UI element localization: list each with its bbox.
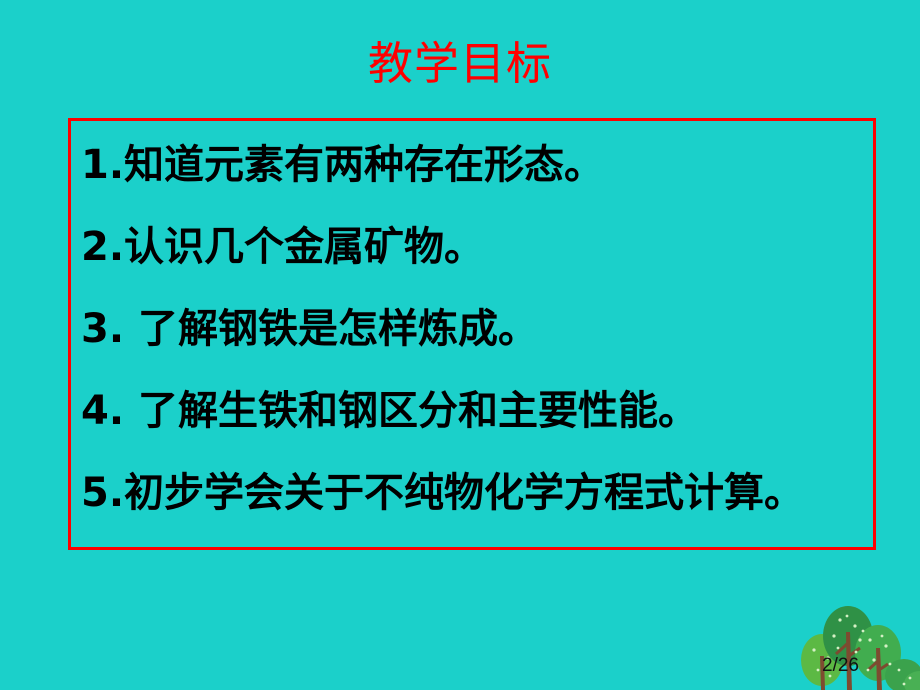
objectives-box: 1.知道元素有两种存在形态。 2.认识几个金属矿物。 3. 了解钢铁是怎样炼成。… xyxy=(68,118,876,550)
slide-canvas: 教学目标 1.知道元素有两种存在形态。 2.认识几个金属矿物。 3. 了解钢铁是… xyxy=(0,0,920,690)
list-item: 4. 了解生铁和钢区分和主要性能。 xyxy=(81,389,867,433)
list-item: 2.认识几个金属矿物。 xyxy=(81,225,867,269)
page-number: 2/26 xyxy=(822,655,859,677)
list-item: 1.知道元素有两种存在形态。 xyxy=(81,143,867,187)
list-item: 3. 了解钢铁是怎样炼成。 xyxy=(81,307,867,351)
list-item: 5.初步学会关于不纯物化学方程式计算。 xyxy=(81,471,867,515)
page-title: 教学目标 xyxy=(0,38,920,90)
objectives-list: 1.知道元素有两种存在形态。 2.认识几个金属矿物。 3. 了解钢铁是怎样炼成。… xyxy=(81,143,867,515)
trees-decoration-icon xyxy=(800,598,920,690)
